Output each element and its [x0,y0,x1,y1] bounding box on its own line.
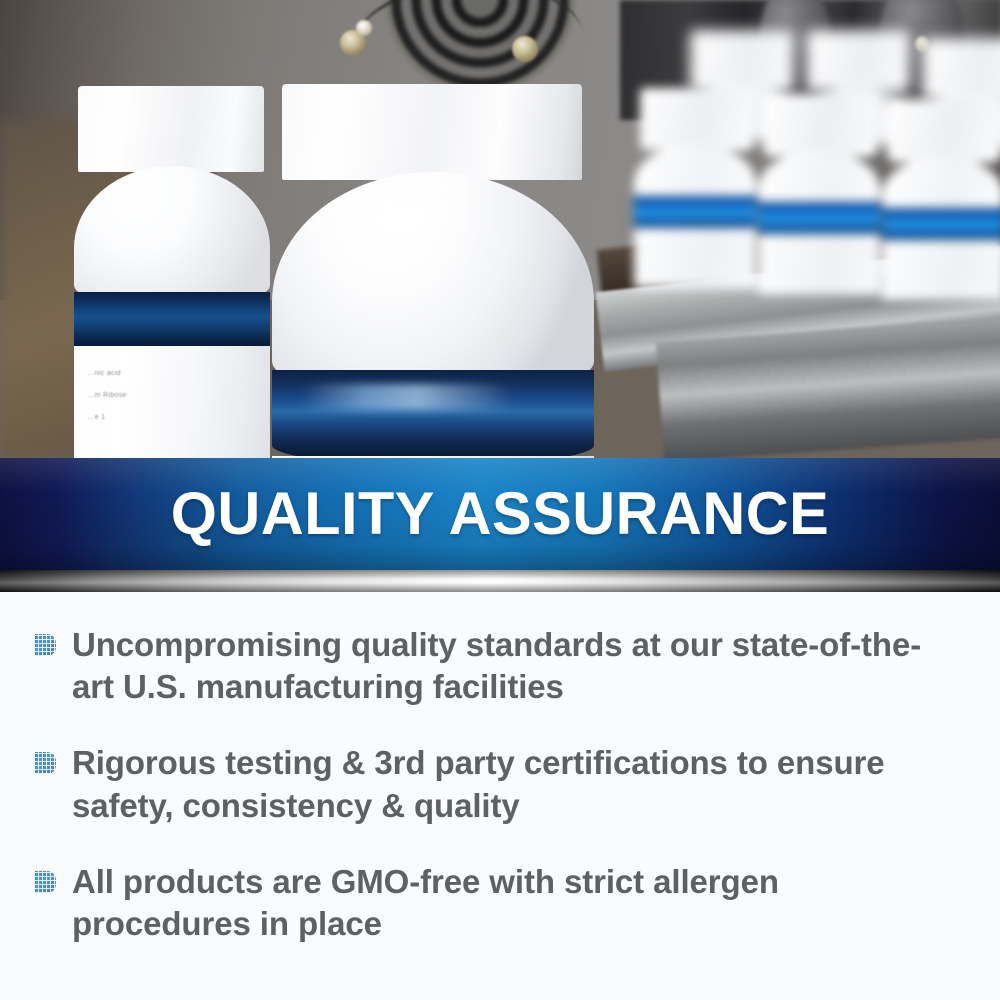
list-item-label: Rigorous testing & 3rd party certificati… [72,742,960,826]
bottle-cap [282,84,582,180]
bottle-label-text: ...nic acid [88,368,121,379]
conveyor-shelf [656,317,1000,458]
bullet-marker-icon [34,634,56,656]
label-band-sheen [302,384,512,410]
bottle-label-band [74,292,270,350]
bullet-marker-icon [34,752,56,774]
list-item: Rigorous testing & 3rd party certificati… [28,742,960,826]
bottle-highlight [338,180,468,260]
bottle-body: ...nic acid ...m Ribose ...e 1 [74,346,270,458]
silver-divider [0,570,1000,592]
bullet-marker-icon [34,871,56,893]
benefits-list: Uncompromising quality standards at our … [0,600,1000,1000]
bottle-cap [78,86,264,172]
list-item: All products are GMO-free with strict al… [28,861,960,945]
bottle-label-text: ...e 1 [88,412,105,423]
list-item-label: Uncompromising quality standards at our … [72,624,960,708]
bolt-highlight-icon [356,20,372,36]
bottle-body [272,456,594,458]
list-item: Uncompromising quality standards at our … [28,624,960,708]
bottle-label-text: ...m Ribose [88,390,127,401]
bottle-row-mid [640,78,1000,308]
list-item-label: All products are GMO-free with strict al… [72,861,960,945]
quality-assurance-infographic: ...nic acid ...m Ribose ...e 1 QUALITY A… [0,0,1000,1000]
bolt-icon-right [512,36,538,62]
quality-assurance-banner: QUALITY ASSURANCE [0,458,1000,570]
manufacturing-photo: ...nic acid ...m Ribose ...e 1 [0,0,1000,458]
page-title: QUALITY ASSURANCE [5,484,995,544]
